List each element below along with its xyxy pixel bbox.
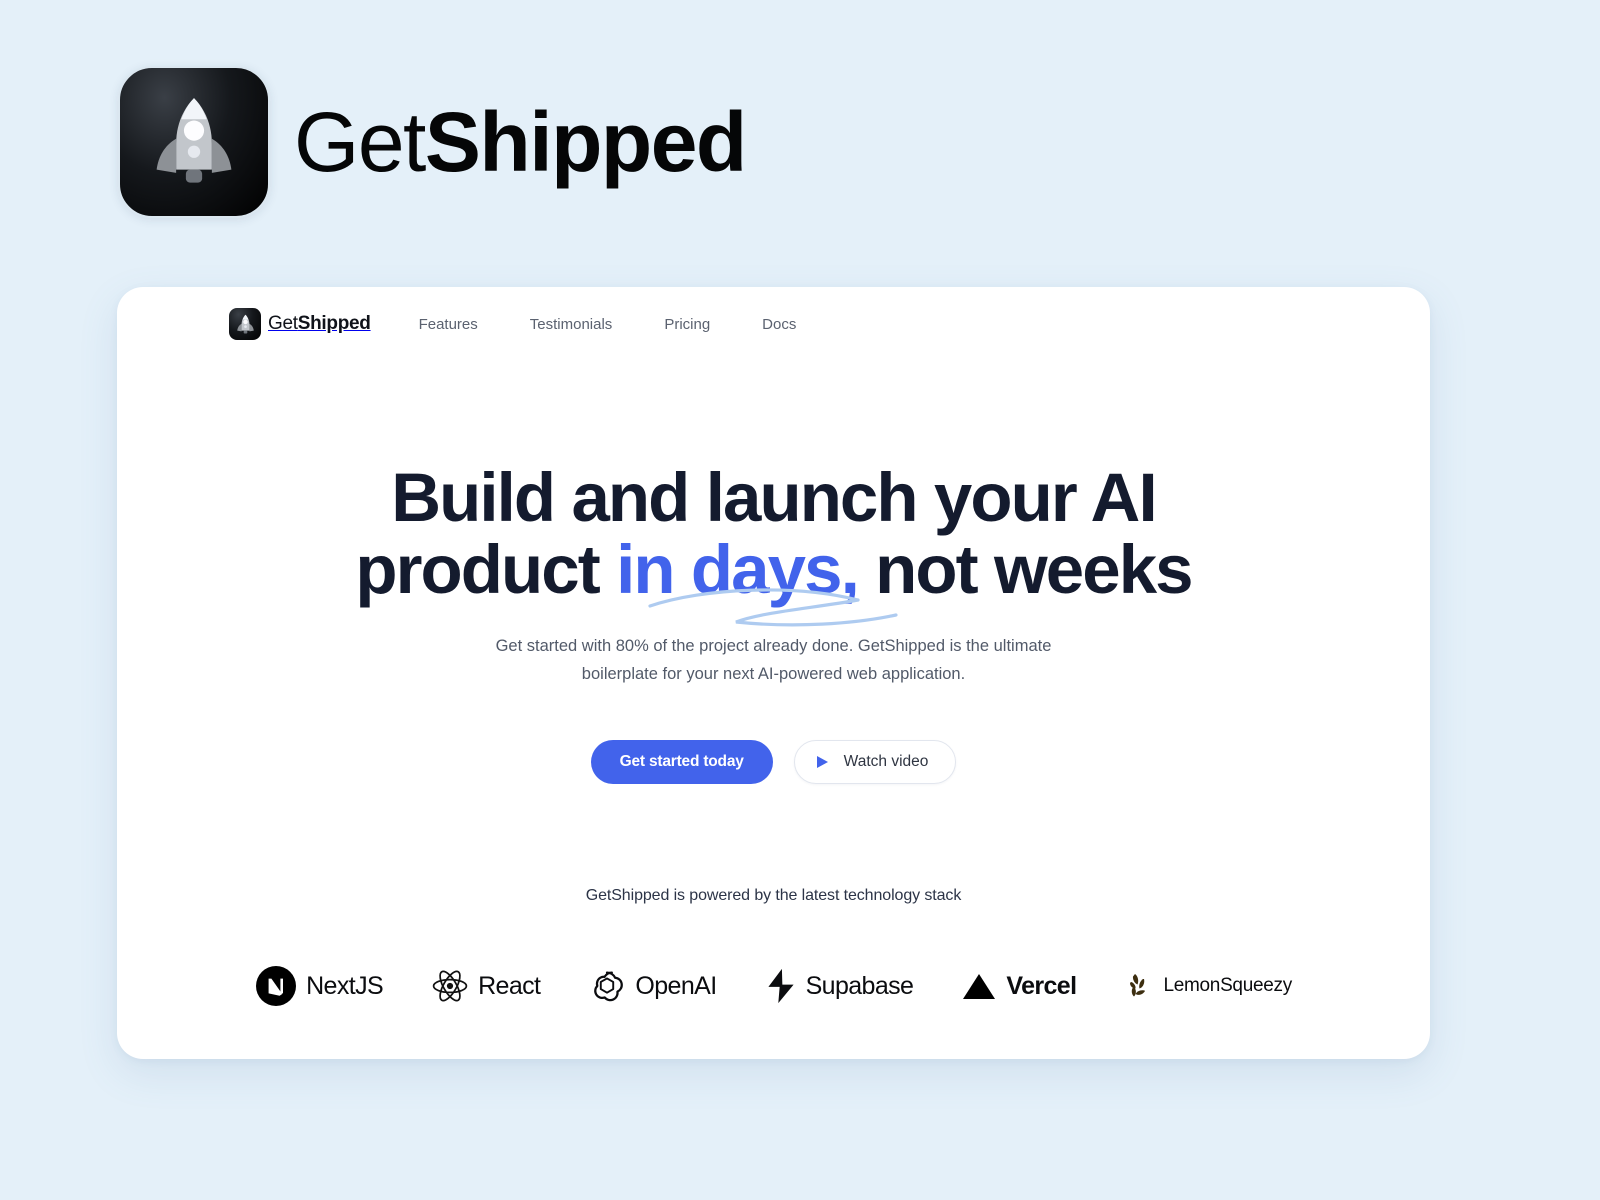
watch-video-label: Watch video [844, 753, 929, 771]
navbar-links: Features Testimonials Pricing Docs [419, 312, 797, 337]
supabase-icon [765, 968, 797, 1004]
navbar-brand-bold: Shipped [298, 313, 371, 334]
tech-stack-item-openai[interactable]: OpenAI [588, 967, 716, 1005]
navbar-brand-link[interactable]: GetShipped [229, 308, 371, 340]
lemonsqueezy-icon [1124, 970, 1154, 1002]
tech-stack-item-supabase[interactable]: Supabase [765, 968, 914, 1004]
play-icon [817, 756, 828, 768]
vercel-icon [961, 970, 997, 1002]
openai-icon [588, 967, 626, 1005]
tech-stack-item-react[interactable]: React [431, 967, 540, 1005]
landing-page-card: GetShipped Features Testimonials Pricing… [117, 287, 1430, 1059]
rocket-icon [229, 308, 261, 340]
watch-video-button[interactable]: Watch video [794, 740, 957, 784]
headline-accent: in days, [616, 531, 858, 608]
hero-subheadline: Get started with 80% of the project alre… [494, 632, 1054, 689]
tech-stack-label-react: React [478, 972, 540, 1001]
brand-name-light: Get [294, 95, 425, 189]
brand-wordmark: GetShipped [294, 100, 746, 184]
tech-stack-caption: GetShipped is powered by the latest tech… [117, 887, 1430, 905]
nav-link-testimonials[interactable]: Testimonials [530, 312, 613, 337]
tech-stack-label-vercel: Vercel [1006, 972, 1076, 1001]
navbar-brand-text: GetShipped [268, 313, 371, 335]
hero-cta-row: Get started today Watch video [117, 740, 1430, 784]
page-title: Build and launch your AI product in days… [334, 462, 1214, 606]
tech-stack-label-lemonsqueezy: LemonSqueezy [1163, 975, 1291, 997]
rocket-icon [118, 66, 270, 218]
nextjs-icon [255, 965, 297, 1007]
tech-stack-label-supabase: Supabase [806, 972, 914, 1001]
tech-stack-item-nextjs[interactable]: NextJS [255, 965, 383, 1007]
hero-subheadline-line-2: boilerplate for your next AI-powered web… [582, 665, 965, 683]
navbar-brand-light: Get [268, 313, 298, 334]
react-icon [431, 967, 469, 1005]
hero-subheadline-line-1: Get started with 80% of the project alre… [496, 637, 1052, 655]
tech-stack-row: NextJS React [117, 965, 1430, 1007]
brand-header: GetShipped [118, 66, 746, 218]
nav-link-pricing[interactable]: Pricing [664, 312, 710, 337]
headline-line-2: product in days, not weeks [334, 534, 1214, 606]
nav-link-docs[interactable]: Docs [762, 312, 796, 337]
navbar: GetShipped Features Testimonials Pricing… [229, 308, 796, 340]
get-started-button[interactable]: Get started today [591, 740, 773, 784]
nav-link-features[interactable]: Features [419, 312, 478, 337]
brand-name-bold: Shipped [425, 95, 746, 189]
tech-stack-item-lemonsqueezy[interactable]: LemonSqueezy [1124, 970, 1291, 1002]
tech-stack-item-vercel[interactable]: Vercel [961, 970, 1076, 1002]
headline-line-1: Build and launch your AI [391, 459, 1156, 536]
hero-section: Build and launch your AI product in days… [117, 462, 1430, 784]
tech-stack-label-openai: OpenAI [635, 972, 716, 1001]
headline-line2-post: not weeks [858, 531, 1192, 608]
headline-line2-pre: product [355, 531, 616, 608]
tech-stack-label-nextjs: NextJS [306, 972, 383, 1001]
